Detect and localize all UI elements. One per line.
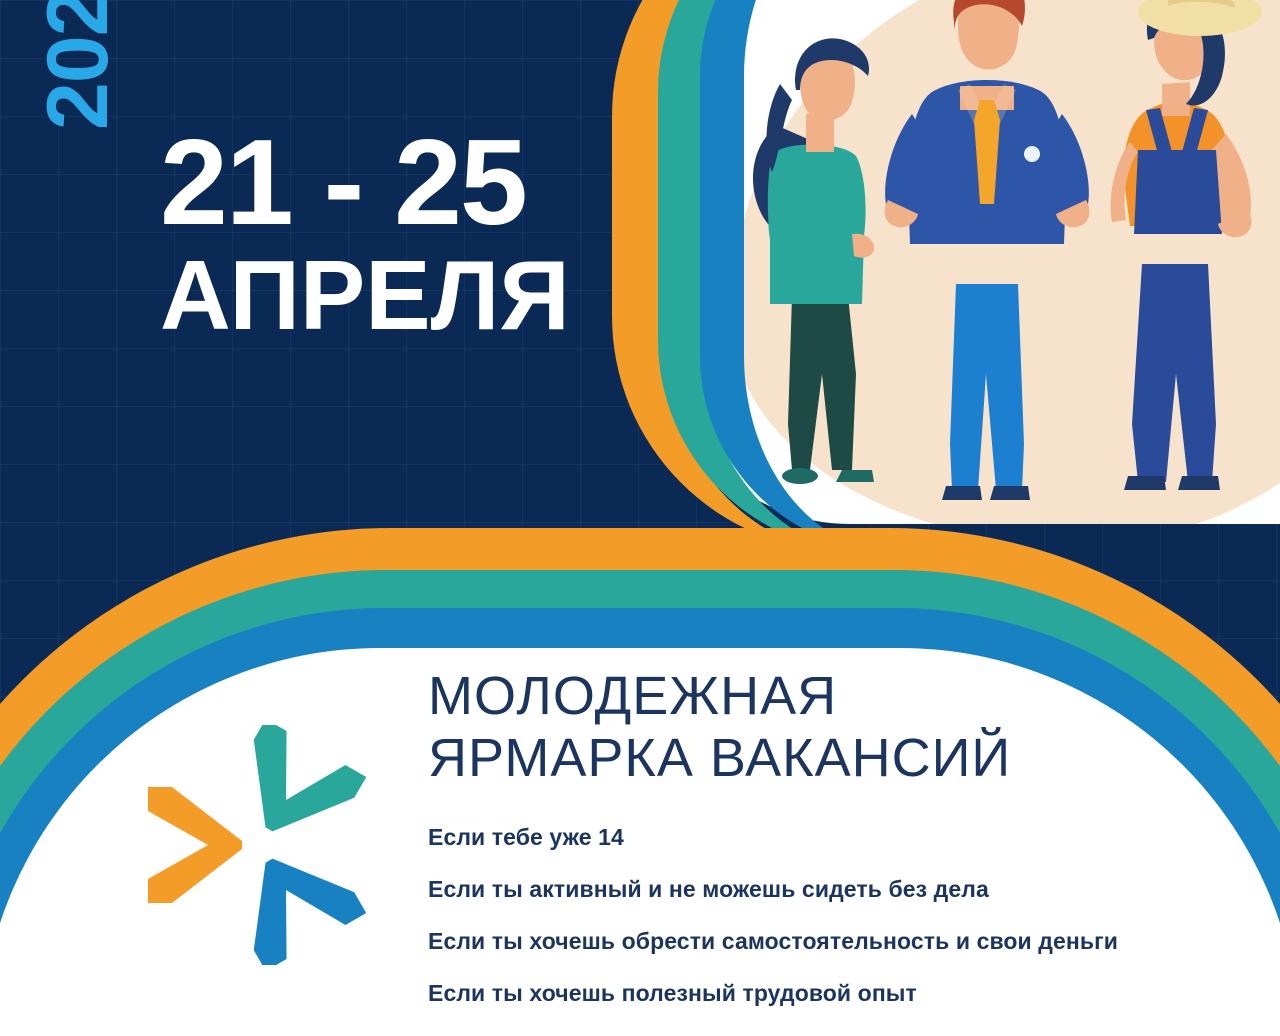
logo-chevron-orange — [148, 787, 242, 903]
date-block: 21 - 25 АПРЕЛЯ — [160, 126, 570, 340]
bullet-item: Если ты хочешь обрести самостоятельность… — [428, 928, 1268, 955]
ribbon-blue-top — [700, 0, 1280, 552]
year-label: 2025 — [38, 0, 120, 130]
logo-chevron-teal — [219, 725, 366, 858]
headline-line-1: МОЛОДЕЖНАЯ — [428, 666, 1218, 728]
bullet-item: Если ты хочешь полезный трудовой опыт — [428, 980, 1268, 1007]
headline-line-2: ЯРМАРКА ВАКАНСИЙ — [428, 728, 1218, 790]
day-range-label: 21 - 25 — [160, 126, 570, 238]
event-headline: МОЛОДЕЖНАЯ ЯРМАРКА ВАКАНСИЙ — [428, 666, 1218, 789]
tri-chevron-logo — [140, 725, 380, 965]
bullet-item: Если ты активный и не можешь сидеть без … — [428, 876, 1268, 903]
bullet-item: Если тебе уже 14 — [428, 824, 1268, 851]
logo-chevron-blue — [219, 832, 366, 965]
month-label: АПРЕЛЯ — [160, 250, 570, 340]
poster-canvas: 2025 21 - 25 АПРЕЛЯ МОЛОДЕЖНАЯ ЯРМ — [0, 0, 1280, 1036]
bullet-list: Если тебе уже 14 Если ты активный и не м… — [428, 824, 1268, 1007]
